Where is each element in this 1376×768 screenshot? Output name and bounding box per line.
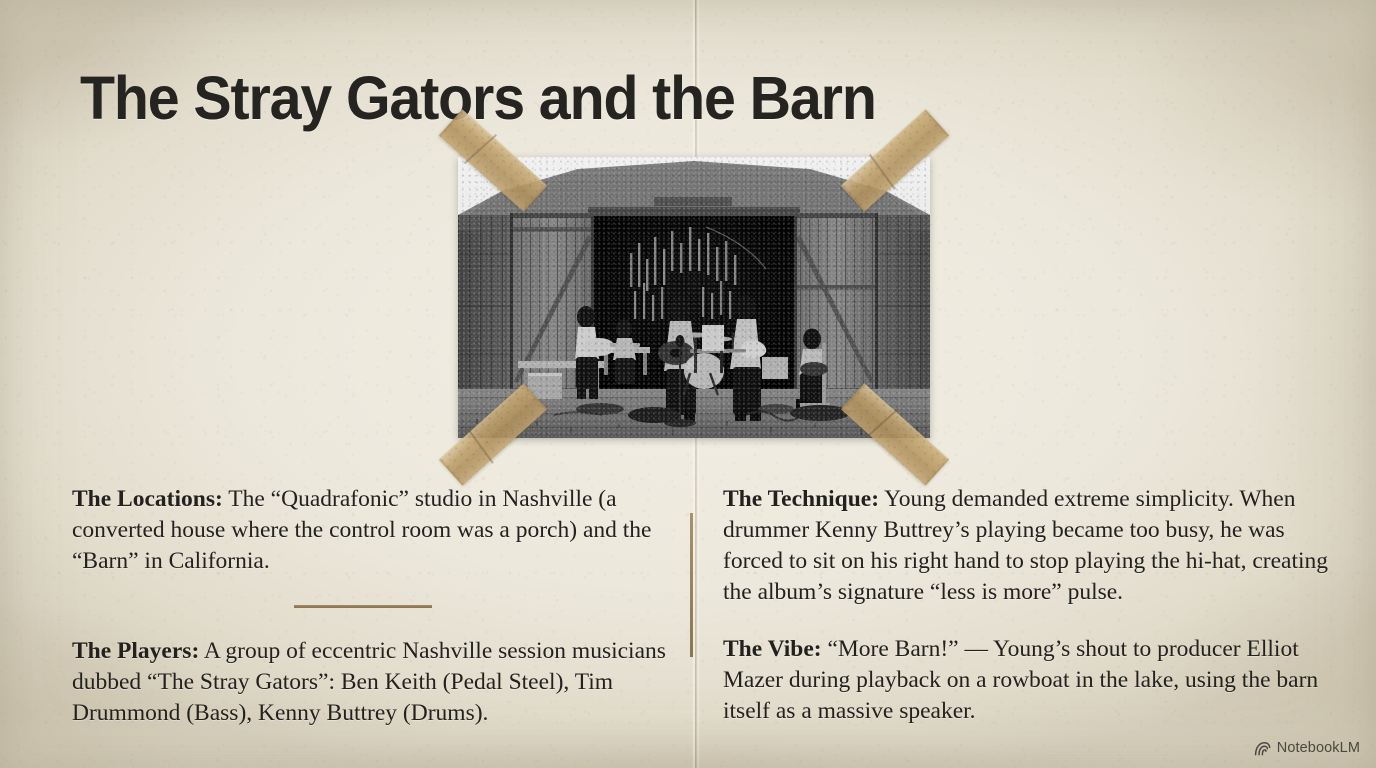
notebooklm-watermark: NotebookLM: [1254, 740, 1360, 756]
section-divider-rule: [294, 605, 432, 608]
paragraph-vibe-lead: The Vibe:: [723, 636, 822, 662]
paragraph-technique: The Technique: Young demanded extreme si…: [723, 484, 1341, 608]
paragraph-players-lead: The Players:: [72, 638, 199, 664]
barn-photograph: [458, 157, 930, 438]
left-text-column: The Locations: The “Quadrafonic” studio …: [72, 484, 692, 729]
notebooklm-label: NotebookLM: [1277, 740, 1360, 756]
slide-canvas: The Stray Gators and the Barn: [0, 0, 1376, 768]
right-text-column: The Technique: Young demanded extreme si…: [723, 484, 1341, 727]
column-divider-rule: [690, 513, 693, 657]
paragraph-vibe: The Vibe: “More Barn!” — Young’s shout t…: [723, 634, 1341, 727]
paragraph-technique-lead: The Technique:: [723, 486, 879, 512]
paragraph-players: The Players: A group of eccentric Nashvi…: [72, 636, 692, 729]
paragraph-locations: The Locations: The “Quadrafonic” studio …: [72, 484, 692, 577]
paragraph-locations-lead: The Locations:: [72, 486, 223, 512]
paragraph-spacer: [723, 608, 1341, 634]
notebooklm-logo-icon: [1254, 741, 1271, 756]
